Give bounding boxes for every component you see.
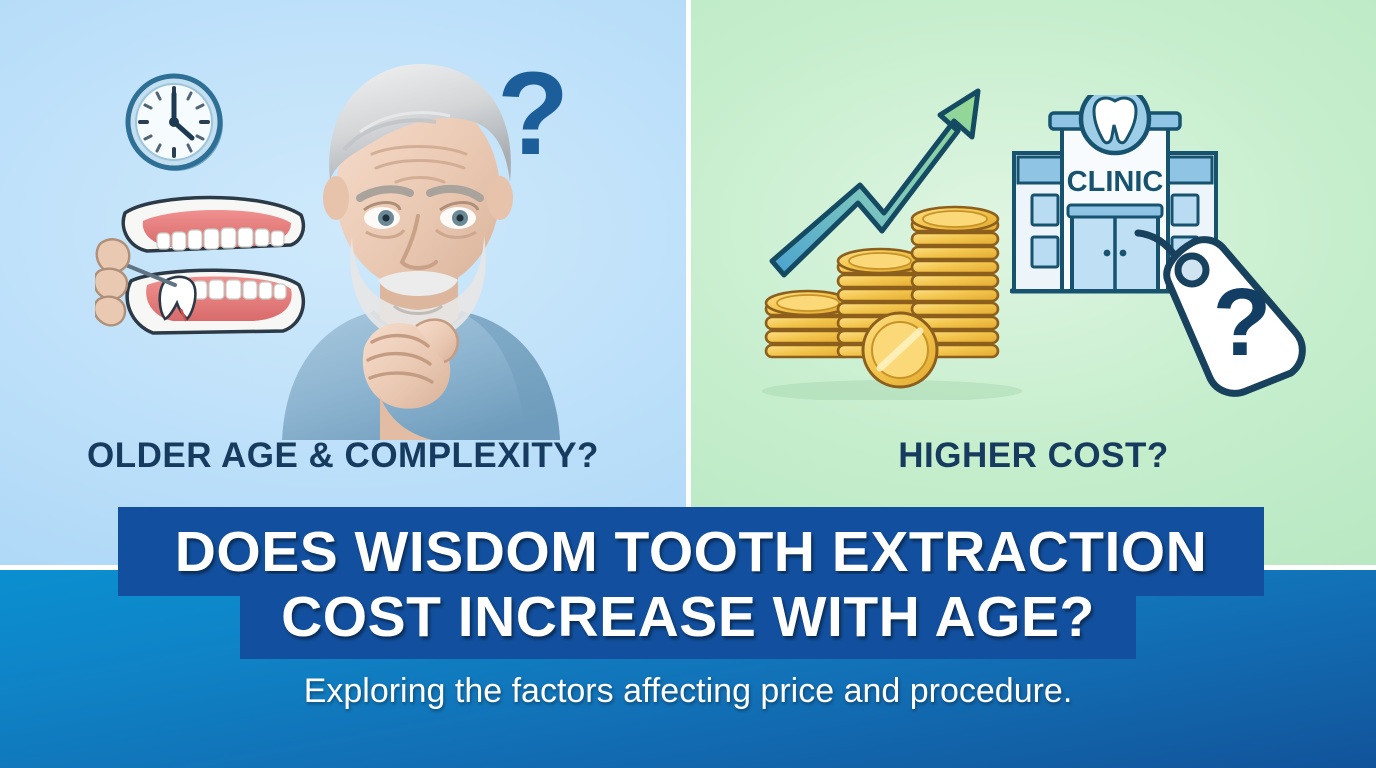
price-tag-icon: ? — [1130, 215, 1315, 400]
subtitle: Exploring the factors affecting price an… — [0, 672, 1376, 711]
title-line-2: COST INCREASE WITH AGE? — [240, 574, 1136, 659]
clinic-sign-text: CLINIC — [1067, 166, 1164, 198]
wall-clock-icon — [124, 72, 228, 176]
caption-higher-cost: HIGHER COST? — [691, 438, 1376, 473]
panel-older-age: ? OLDER AGE & COMPLEXITY? — [0, 0, 686, 570]
coin-stack-icon — [752, 185, 1032, 400]
infographic-canvas: ? OLDER AGE & COMPLEXITY? HIGHER COST? — [0, 0, 1376, 768]
question-mark-icon: ? — [497, 55, 569, 173]
caption-older-age: OLDER AGE & COMPLEXITY? — [0, 438, 686, 473]
denture-model-icon — [95, 185, 325, 375]
price-tag-question-mark: ? — [1213, 269, 1272, 376]
